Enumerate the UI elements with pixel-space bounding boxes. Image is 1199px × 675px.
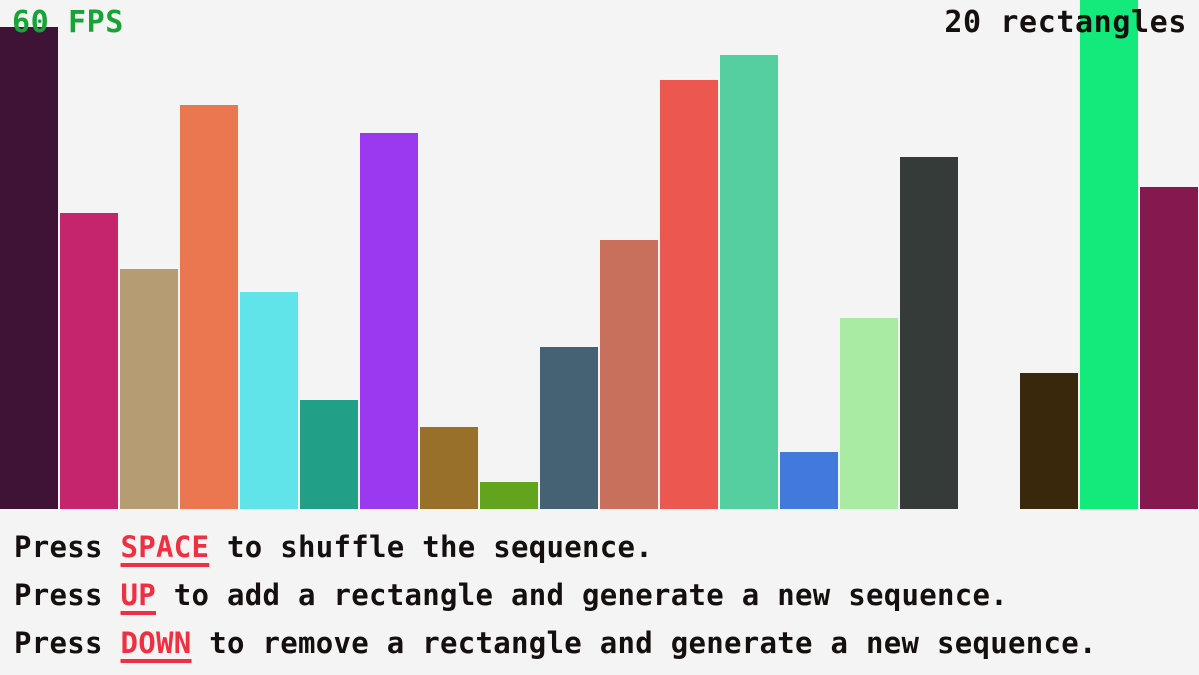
rectangle-chart[interactable] [0,0,1199,509]
bar-brown [420,427,478,509]
bar-olive-green [480,482,538,509]
bar-bright-green [1080,0,1138,509]
key-up[interactable]: UP [121,578,157,612]
bar-royal-blue [780,452,838,509]
bar-dark-brown [1020,373,1078,509]
bar-sea-green [720,55,778,509]
instruction-suffix: to shuffle the sequence. [209,530,653,564]
instruction-suffix: to remove a rectangle and generate a new… [192,626,1097,660]
key-down[interactable]: DOWN [121,626,192,660]
instruction-suffix: to add a rectangle and generate a new se… [156,578,1008,612]
app-window: 60 FPS 20 rectangles Press SPACE to shuf… [0,0,1199,675]
bar-charcoal [900,157,958,509]
instructions-panel: Press SPACE to shuffle the sequence.Pres… [0,509,1199,675]
key-space[interactable]: SPACE [121,530,210,564]
instruction-prefix: Press [14,578,121,612]
bar-purple [360,133,418,509]
bar-slate-blue [540,347,598,509]
bar-maroon [1140,187,1198,509]
instruction-prefix: Press [14,626,121,660]
bar-dark-plum [0,27,58,509]
fps-counter: 60 FPS [12,8,124,38]
bar-tan [120,269,178,509]
rectangle-count-label: 20 rectangles [944,8,1187,38]
instruction-prefix: Press [14,530,121,564]
instruction-line-1: Press SPACE to shuffle the sequence. [14,523,1199,571]
bar-orange [180,105,238,509]
bar-terracotta [600,240,658,509]
bar-light-green [840,318,898,509]
bar-cyan [240,292,298,509]
instruction-line-3: Press DOWN to remove a rectangle and gen… [14,619,1199,667]
instruction-line-2: Press UP to add a rectangle and generate… [14,571,1199,619]
bar-red [660,80,718,509]
bar-magenta [60,213,118,509]
bar-teal [300,400,358,509]
